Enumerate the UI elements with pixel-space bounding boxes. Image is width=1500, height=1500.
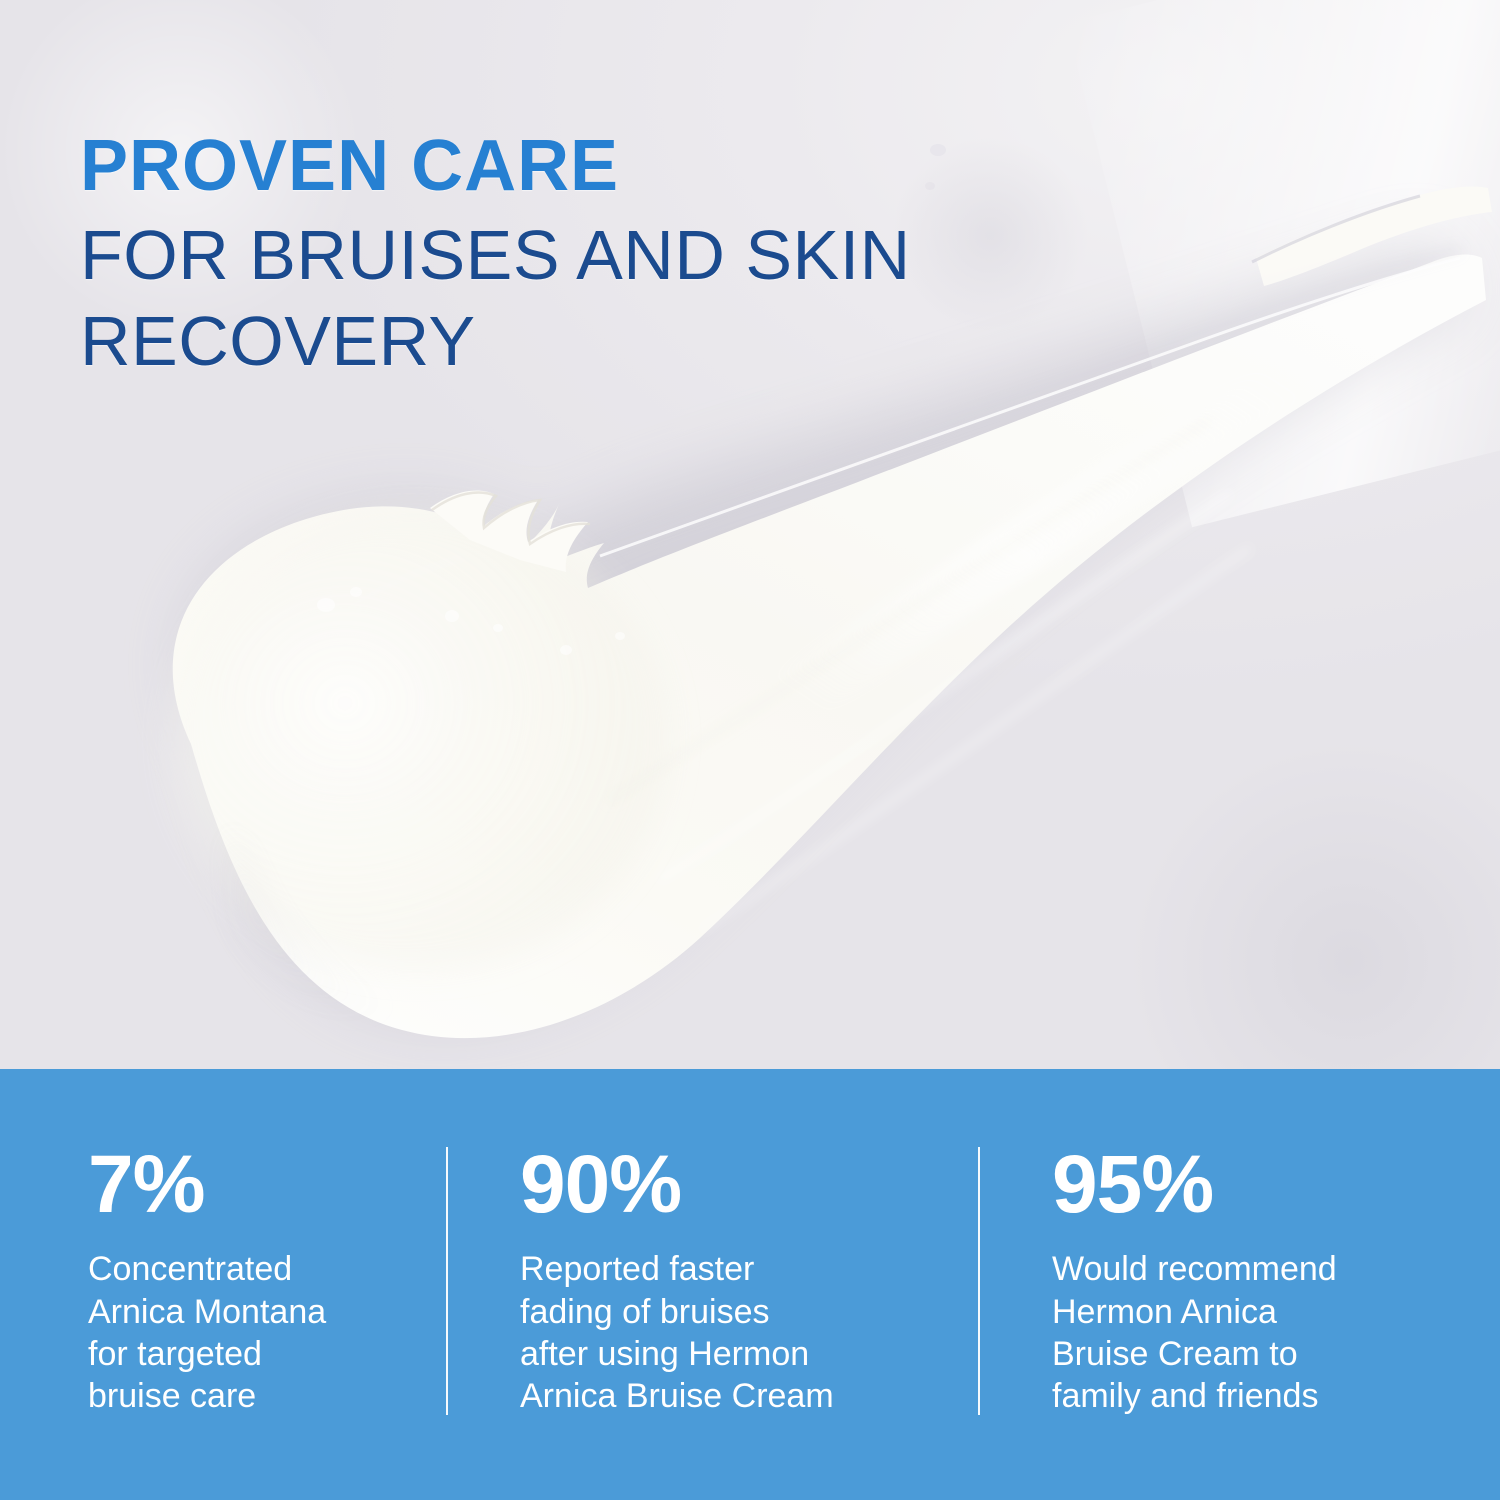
stat-item-1: 7% Concentrated Arnica Montana for targe… [0, 1069, 446, 1500]
stat-item-2: 90% Reported faster fading of bruises af… [446, 1069, 978, 1500]
stat-divider-2 [978, 1147, 980, 1415]
stat-divider-1 [446, 1147, 448, 1415]
stat-value-2: 90% [520, 1147, 948, 1222]
headline-block: PROVEN CARE FOR BRUISES AND SKIN RECOVER… [80, 131, 1260, 376]
product-marketing-image: PROVEN CARE FOR BRUISES AND SKIN RECOVER… [0, 0, 1500, 1500]
hero-photo-area: PROVEN CARE FOR BRUISES AND SKIN RECOVER… [0, 0, 1500, 1069]
stat-item-3: 95% Would recommend Hermon Arnica Bruise… [978, 1069, 1500, 1500]
headline-line-2: FOR BRUISES AND SKIN [80, 221, 1260, 290]
stat-description-2: Reported faster fading of bruises after … [520, 1248, 948, 1417]
stat-description-1: Concentrated Arnica Montana for targeted… [88, 1248, 416, 1417]
stats-band: 7% Concentrated Arnica Montana for targe… [0, 1069, 1500, 1500]
headline-line-1: PROVEN CARE [80, 131, 1260, 202]
stat-description-3: Would recommend Hermon Arnica Bruise Cre… [1052, 1248, 1480, 1417]
stat-value-1: 7% [88, 1147, 416, 1222]
headline-line-3: RECOVERY [80, 307, 1260, 376]
stats-grid: 7% Concentrated Arnica Montana for targe… [0, 1069, 1500, 1500]
stat-value-3: 95% [1052, 1147, 1480, 1222]
